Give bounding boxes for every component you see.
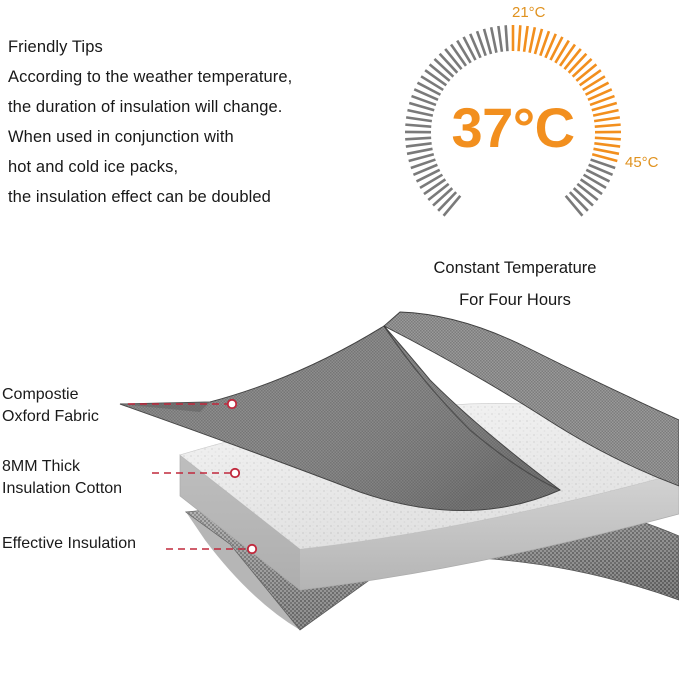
tips-line-0: Friendly Tips <box>8 32 378 62</box>
gauge-tick-active <box>519 25 521 51</box>
callout-oxford-fabric: Compostie Oxford Fabric <box>2 384 99 428</box>
caption-line-0: Constant Temperature <box>370 252 660 284</box>
gauge-tick-active <box>524 26 528 52</box>
callout-insulation-cotton: 8MM Thick Insulation Cotton <box>2 456 122 500</box>
callout-effective-insulation: Effective Insulation <box>2 533 136 555</box>
gauge-tick-active <box>530 27 535 52</box>
gauge-tick-active <box>583 76 605 90</box>
gauge-tick-active <box>573 59 592 77</box>
gauge-tick <box>457 41 470 63</box>
gauge-tick <box>566 196 583 216</box>
gauge-tick <box>498 26 502 52</box>
gauge-tick <box>444 196 461 216</box>
callout-oxford-line-0: Compostie <box>2 384 99 406</box>
gauge-min-label: 21°C <box>512 4 546 21</box>
gauge-tick <box>570 192 588 211</box>
gauge-max-label: 45°C <box>625 154 659 171</box>
temperature-gauge: 37°C 21°C 45°C <box>390 4 640 264</box>
callout-effective-line-0: Effective Insulation <box>2 533 136 555</box>
gauge-tick <box>581 179 602 194</box>
gauge-tick <box>434 59 453 77</box>
gauge-tick <box>424 179 445 194</box>
infographic-page: Friendly Tips According to the weather t… <box>0 0 679 685</box>
gauge-tick <box>428 184 448 200</box>
gauge-tick <box>506 25 508 51</box>
gauge-tick <box>577 184 597 200</box>
gauge-tick <box>440 54 458 73</box>
gauge-tick-active <box>580 70 601 85</box>
gauge-tick-active <box>576 64 596 81</box>
gauge-value-text: 37°C <box>390 100 636 156</box>
gauge-tick <box>430 64 450 81</box>
tips-line-1: According to the weather temperature, <box>8 62 378 92</box>
gauge-tick <box>491 27 496 52</box>
callout-cotton-line-0: 8MM Thick <box>2 456 122 478</box>
tips-line-5: the insulation effect can be doubled <box>8 182 378 212</box>
gauge-tick-active <box>560 45 575 66</box>
gauge-tick <box>574 188 593 205</box>
gauge-tick <box>438 192 456 211</box>
callout-cotton-line-1: Insulation Cotton <box>2 478 122 500</box>
gauge-tick-active <box>569 54 587 73</box>
gauge-tick <box>421 76 443 90</box>
gauge-tick <box>445 49 461 69</box>
gauge-tick <box>433 188 452 205</box>
gauge-tick-active <box>564 49 580 69</box>
gauge-tick <box>451 45 466 66</box>
tips-line-2: the duration of insulation will change. <box>8 92 378 122</box>
gauge-tick-active <box>555 41 568 63</box>
gauge-tick <box>425 70 446 85</box>
friendly-tips-block: Friendly Tips According to the weather t… <box>8 32 378 212</box>
callout-oxford-line-1: Oxford Fabric <box>2 406 99 428</box>
tips-line-3: When used in conjunction with <box>8 122 378 152</box>
tips-line-4: hot and cold ice packs, <box>8 152 378 182</box>
